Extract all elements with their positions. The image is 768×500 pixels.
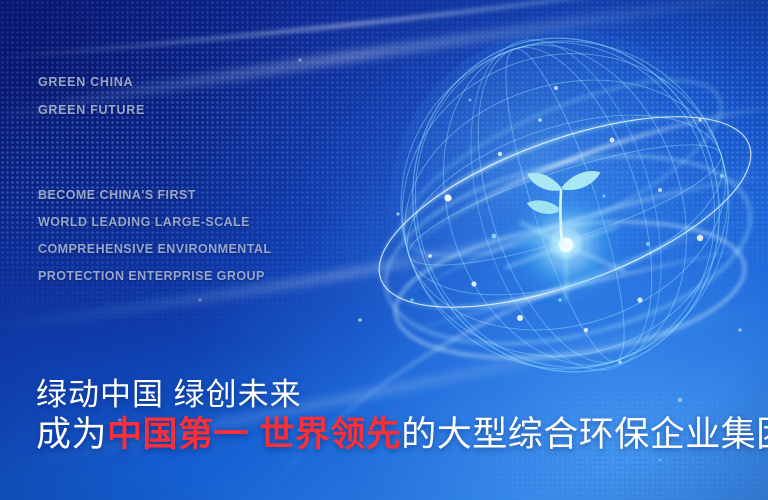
headline-prefix: 成为 [36, 415, 107, 454]
headline-suffix: 的大型综合环保企业集团 [401, 415, 768, 454]
headline-line-2: 成为中国第一 世界领先的大型综合环保企业集团 [36, 406, 768, 457]
subheading-line-2: WORLD LEADING LARGE-SCALE [38, 215, 250, 229]
subheading-line-3: COMPREHENSIVE ENVIRONMENTAL [38, 242, 271, 256]
subheading-line-4: PROTECTION ENTERPRISE GROUP [38, 269, 265, 283]
eyebrow-line-1: GREEN CHINA [38, 75, 133, 89]
headline-accent: 中国第一 世界领先 [107, 415, 401, 454]
hero-banner: GREEN CHINA GREEN FUTURE BECOME CHINA'S … [0, 0, 768, 500]
subheading-line-1: BECOME CHINA'S FIRST [38, 188, 196, 202]
eyebrow-line-2: GREEN FUTURE [38, 103, 145, 117]
